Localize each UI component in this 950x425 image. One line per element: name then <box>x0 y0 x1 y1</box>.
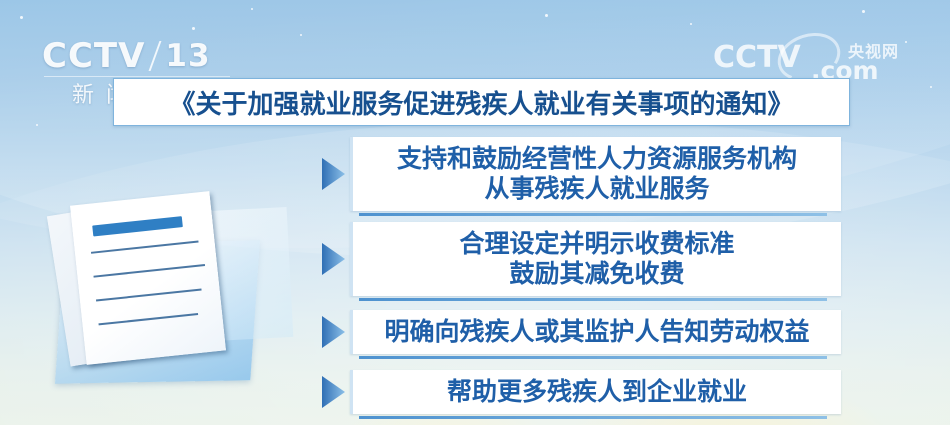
document-text-line <box>98 313 198 325</box>
bullet-panel-3: 明确向残疾人或其监护人告知劳动权益 <box>350 310 841 354</box>
page-title: 《关于加强就业服务促进残疾人就业有关事项的通知》 <box>169 84 793 121</box>
bullet-line-primary: 支持和鼓励经营性人力资源服务机构 <box>397 144 797 175</box>
bullet-line-secondary: 从事残疾人就业服务 <box>484 174 709 205</box>
background-dot <box>20 16 23 19</box>
bullet-panel-1: 支持和鼓励经营性人力资源服务机构 从事残疾人就业服务 <box>350 137 841 211</box>
bullet-row-2: 合理设定并明示收费标准 鼓励其减免收费 <box>322 222 842 296</box>
logo-slash-icon <box>149 41 162 71</box>
notice-title-banner: 《关于加强就业服务促进残疾人就业有关事项的通知》 <box>113 78 850 126</box>
background-dot <box>192 27 195 30</box>
bullet-panel-2: 合理设定并明示收费标准 鼓励其减免收费 <box>350 222 841 296</box>
watermark-cctv-text: CCTV <box>713 40 801 75</box>
background-dot <box>545 14 548 17</box>
bullet-line-primary: 明确向残疾人或其监护人告知劳动权益 <box>384 317 809 348</box>
background-dot <box>251 8 253 10</box>
logo-divider <box>44 76 230 77</box>
background-dot <box>36 124 38 126</box>
arrow-triangle-icon <box>322 316 345 348</box>
bullet-line-secondary: 鼓励其减免收费 <box>509 259 684 290</box>
background-dot <box>862 10 865 13</box>
arrow-triangle-icon <box>322 376 345 408</box>
bullet-row-3: 明确向残疾人或其监护人告知劳动权益 <box>322 310 842 354</box>
document-sheet-front <box>70 191 226 365</box>
logo-channel-number: 13 <box>165 38 210 74</box>
arrow-triangle-icon <box>322 158 345 190</box>
arrow-triangle-icon <box>322 243 345 275</box>
broadcast-graphic: CCTV 13 新闻 CCTV .com 央视网 《关于加强就业服务促进残疾人就… <box>0 0 950 425</box>
document-text-line <box>91 241 199 254</box>
bullet-line-primary: 帮助更多残疾人到企业就业 <box>447 377 747 408</box>
background-dot <box>690 23 692 25</box>
document-text-line <box>93 264 205 278</box>
bullet-row-4: 帮助更多残疾人到企业就业 <box>322 370 842 414</box>
watermark-yangshiwang-text: 央视网 <box>848 38 899 62</box>
bullet-line-primary: 合理设定并明示收费标准 <box>459 229 734 260</box>
bullet-row-1: 支持和鼓励经营性人力资源服务机构 从事残疾人就业服务 <box>322 137 842 211</box>
document-heading-bar <box>92 216 183 236</box>
logo-wordmark: CCTV 13 <box>42 36 232 76</box>
bullet-panel-4: 帮助更多残疾人到企业就业 <box>350 370 841 414</box>
logo-cctv-text: CCTV <box>42 36 145 76</box>
documents-illustration <box>52 190 292 400</box>
document-text-line <box>96 288 202 301</box>
background-dot <box>930 86 932 88</box>
background-dot <box>300 34 302 36</box>
